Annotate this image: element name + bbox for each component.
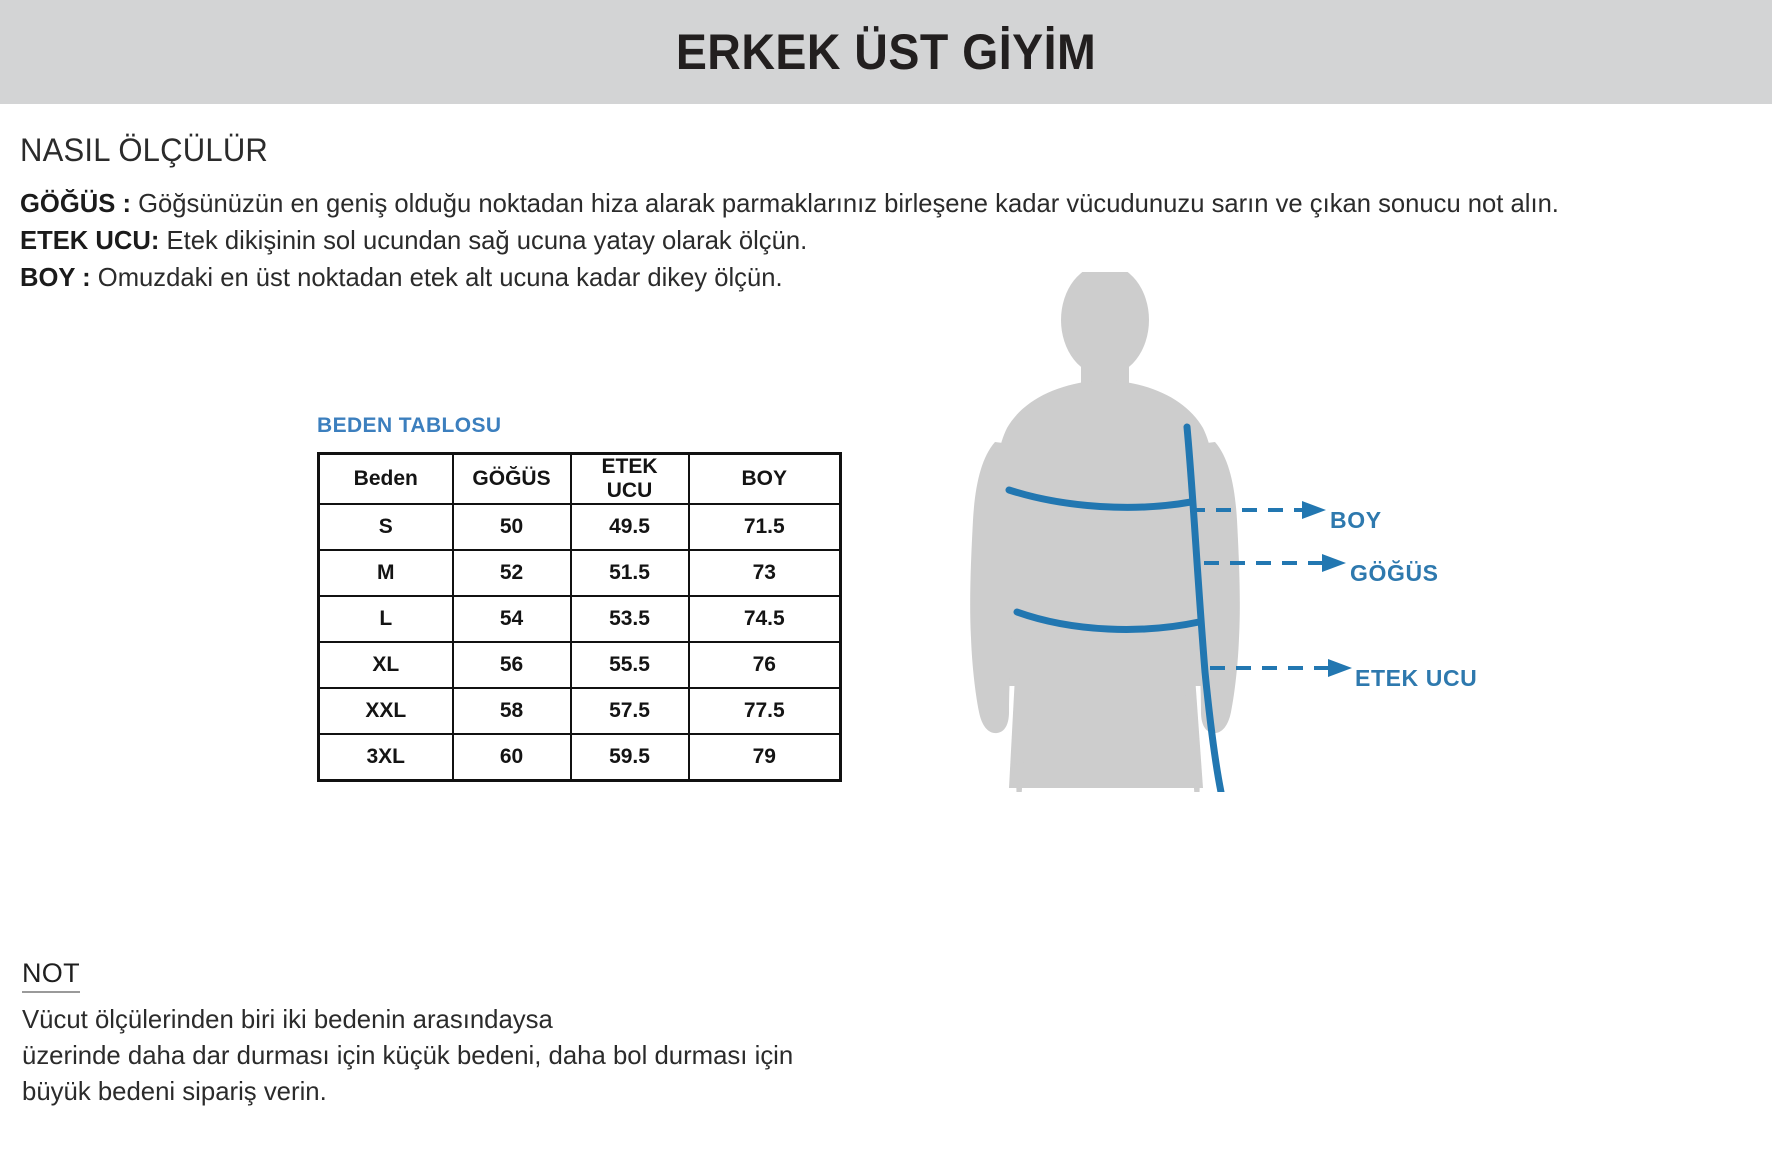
column-header-gogus: GÖĞÜS <box>453 454 571 505</box>
note-section: NOT Vücut ölçülerinden biri iki bedenin … <box>22 958 1022 1109</box>
cell-gogus: 58 <box>453 688 571 734</box>
table-header-row: Beden GÖĞÜS ETEK UCU BOY <box>319 454 841 505</box>
column-header-boy: BOY <box>689 454 841 505</box>
table-row: S 50 49.5 71.5 <box>319 504 841 550</box>
cell-gogus: 52 <box>453 550 571 596</box>
cell-boy: 79 <box>689 734 841 781</box>
size-table: Beden GÖĞÜS ETEK UCU BOY S 50 49.5 71.5 … <box>317 452 842 782</box>
table-row: M 52 51.5 73 <box>319 550 841 596</box>
cell-gogus: 60 <box>453 734 571 781</box>
table-row: XL 56 55.5 76 <box>319 642 841 688</box>
cell-beden: M <box>319 550 453 596</box>
column-header-etek-ucu: ETEK UCU <box>571 454 689 505</box>
cell-etek-ucu: 59.5 <box>571 734 689 781</box>
callout-label-etek-ucu: ETEK UCU <box>1355 665 1477 692</box>
callout-label-boy: BOY <box>1330 507 1382 534</box>
cell-etek-ucu: 57.5 <box>571 688 689 734</box>
cell-beden: XXL <box>319 688 453 734</box>
table-row: 3XL 60 59.5 79 <box>319 734 841 781</box>
cell-gogus: 54 <box>453 596 571 642</box>
size-table-section: BEDEN TABLOSU Beden GÖĞÜS ETEK UCU BOY S… <box>317 414 842 782</box>
cell-beden: 3XL <box>319 734 453 781</box>
gogus-leader-arrow <box>1204 554 1346 572</box>
cell-boy: 76 <box>689 642 841 688</box>
measure-label-gogus: GÖĞÜS : <box>20 188 131 218</box>
cell-etek-ucu: 49.5 <box>571 504 689 550</box>
cell-etek-ucu: 51.5 <box>571 550 689 596</box>
cell-beden: S <box>319 504 453 550</box>
cell-gogus: 56 <box>453 642 571 688</box>
cell-etek-ucu: 53.5 <box>571 596 689 642</box>
note-heading: NOT <box>22 958 80 993</box>
table-row: XXL 58 57.5 77.5 <box>319 688 841 734</box>
cell-boy: 73 <box>689 550 841 596</box>
table-row: L 54 53.5 74.5 <box>319 596 841 642</box>
etek-ucu-leader-arrow <box>1210 659 1352 677</box>
measure-line-boy: BOY : Omuzdaki en üst noktadan etek alt … <box>20 259 1734 296</box>
measure-label-boy: BOY : <box>20 262 91 292</box>
measure-label-etek-ucu: ETEK UCU: <box>20 225 159 255</box>
callout-label-gogus: GÖĞÜS <box>1350 560 1439 587</box>
note-line-2: üzerinde daha dar durması için küçük bed… <box>22 1037 1012 1073</box>
measure-text-gogus: Göğsünüzün en geniş olduğu noktadan hiza… <box>131 188 1559 218</box>
measure-text-boy: Omuzdaki en üst noktadan etek alt ucuna … <box>91 262 783 292</box>
column-header-beden: Beden <box>319 454 453 505</box>
boy-leader-arrow <box>1190 501 1326 519</box>
cell-boy: 74.5 <box>689 596 841 642</box>
cell-boy: 77.5 <box>689 688 841 734</box>
page-header: ERKEK ÜST GİYİM <box>0 0 1772 104</box>
cell-boy: 71.5 <box>689 504 841 550</box>
note-line-1: Vücut ölçülerinden biri iki bedenin aras… <box>22 1001 1012 1037</box>
how-to-measure-heading: NASIL ÖLÇÜLÜR <box>20 132 1708 169</box>
page-title: ERKEK ÜST GİYİM <box>676 23 1096 81</box>
measure-line-etek-ucu: ETEK UCU: Etek dikişinin sol ucundan sağ… <box>20 222 1734 259</box>
cell-beden: L <box>319 596 453 642</box>
measure-line-gogus: GÖĞÜS : Göğsünüzün en geniş olduğu nokta… <box>20 185 1734 222</box>
measure-text-etek-ucu: Etek dikişinin sol ucundan sağ ucuna yat… <box>159 225 807 255</box>
size-table-caption: BEDEN TABLOSU <box>317 414 842 438</box>
cell-beden: XL <box>319 642 453 688</box>
how-to-measure-section: NASIL ÖLÇÜLÜR GÖĞÜS : Göğsünüzün en geni… <box>20 132 1760 296</box>
note-line-3: büyük bedeni sipariş verin. <box>22 1073 1012 1109</box>
cell-etek-ucu: 55.5 <box>571 642 689 688</box>
cell-gogus: 50 <box>453 504 571 550</box>
